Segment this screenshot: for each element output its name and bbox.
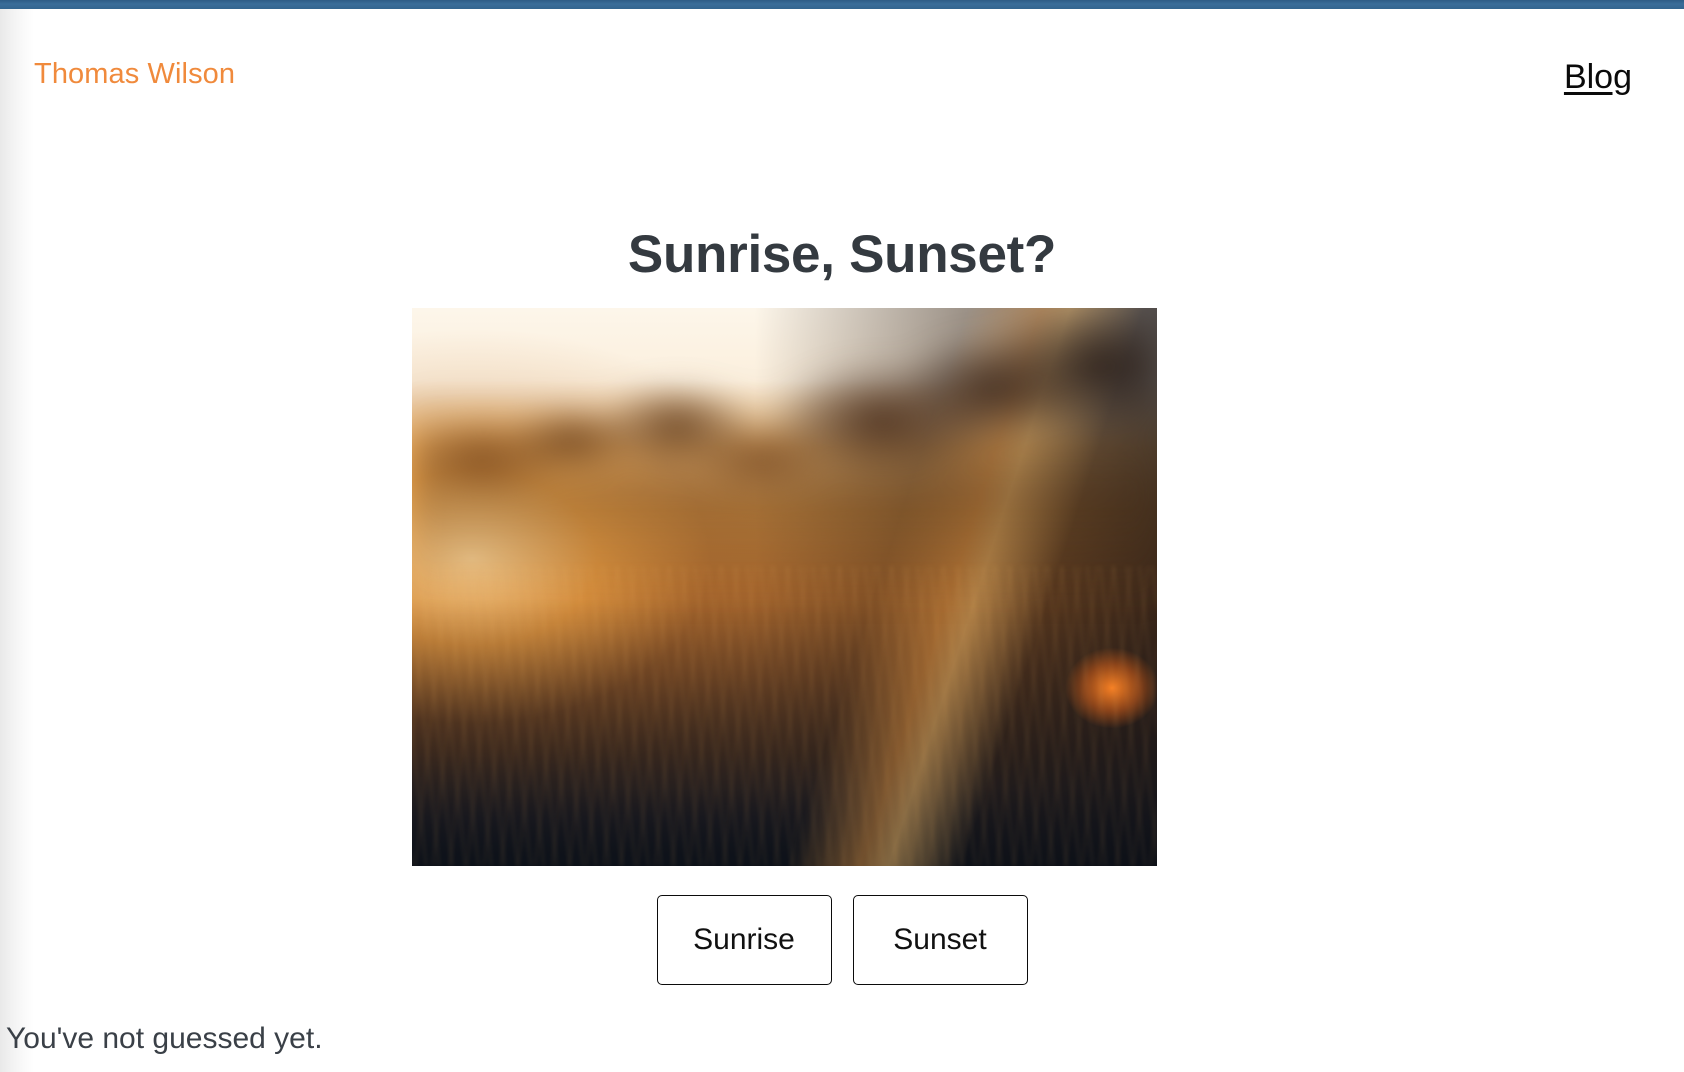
nav-link-blog[interactable]: Blog (1564, 57, 1632, 97)
site-brand-link[interactable]: Thomas Wilson (34, 57, 235, 91)
browser-top-band (0, 0, 1684, 9)
page-title: Sunrise, Sunset? (0, 223, 1684, 287)
answer-button-group: Sunrise Sunset (0, 895, 1684, 985)
site-header: Thomas Wilson Blog (0, 9, 1684, 127)
sunrise-button[interactable]: Sunrise (657, 895, 832, 985)
page-root: Thomas Wilson Blog Sunrise, Sunset? Sunr… (0, 9, 1684, 1072)
sunset-button[interactable]: Sunset (853, 895, 1028, 985)
photo-grass-texture (412, 566, 1157, 866)
guess-status-message: You've not guessed yet. (6, 1021, 323, 1057)
photo-treeline-silhouette (412, 308, 1157, 608)
sunrise-sunset-photo (412, 308, 1157, 866)
